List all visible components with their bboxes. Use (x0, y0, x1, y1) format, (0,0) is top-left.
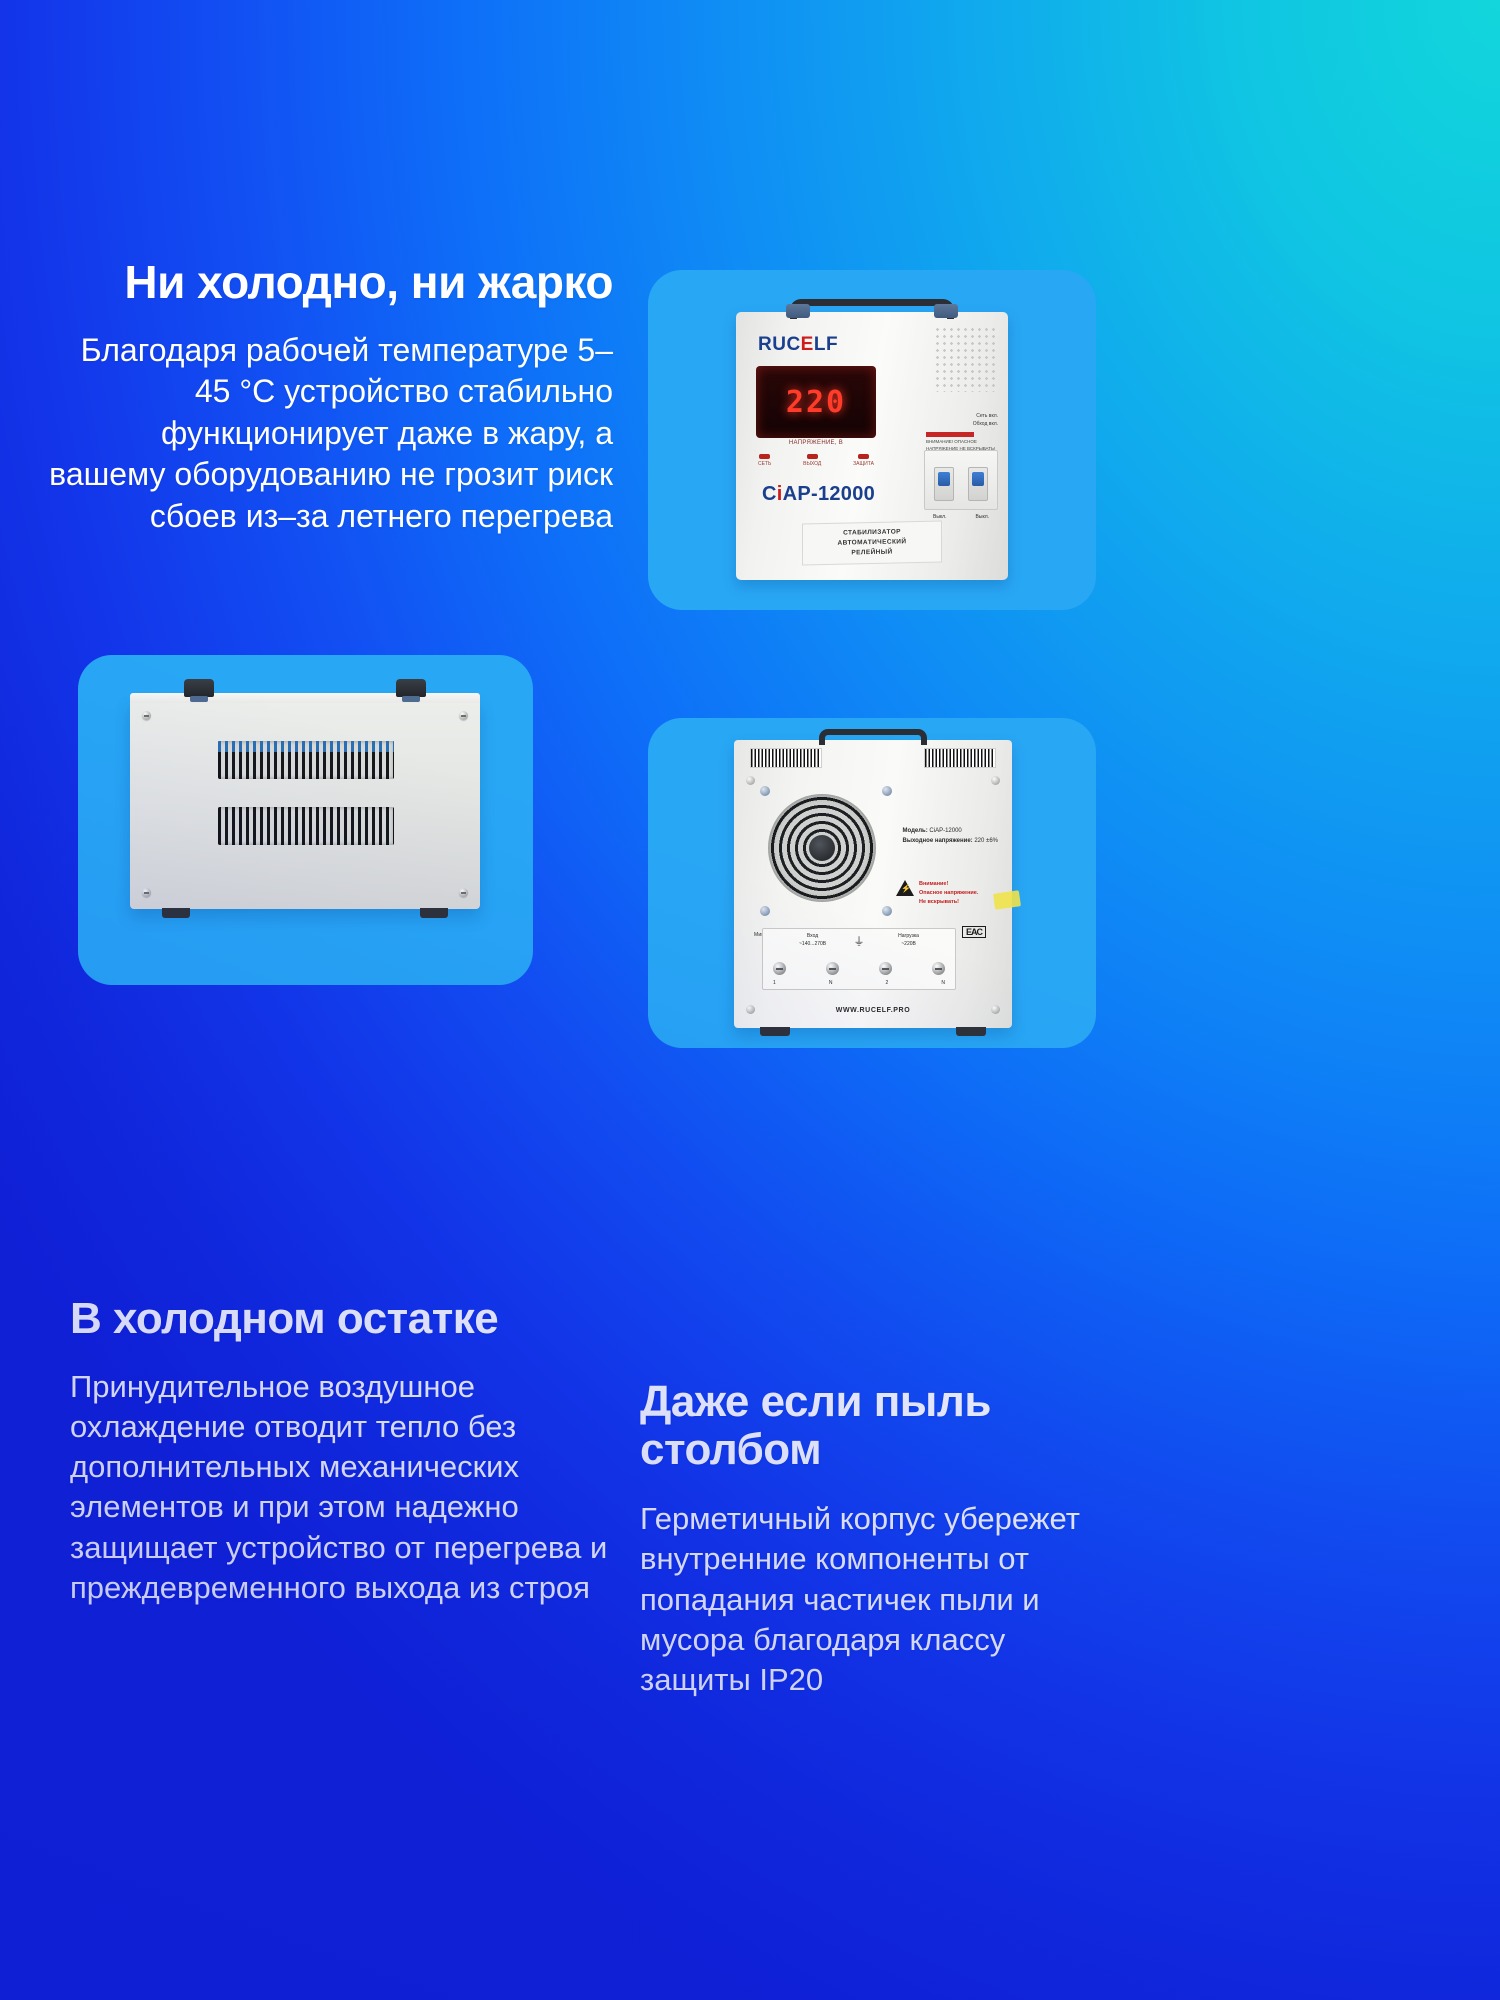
model-prefix: C (762, 483, 777, 505)
rubber-foot-right (420, 908, 448, 918)
rear-screw-top-left (746, 776, 755, 785)
feature-heading-dust: Даже если пыль столбом (640, 1378, 1090, 1473)
fan-screw-top-left (760, 786, 770, 796)
danger-line-2: Опасное напряжение. (919, 890, 978, 896)
switch-foot-label-right: Выкл. (976, 514, 989, 520)
terminal-mark-n1: N (829, 980, 833, 986)
terminal-mark-n2: N (941, 980, 945, 986)
handle-bracket-left (184, 679, 214, 697)
spec-model-row: Модель: CiAP-12000 (903, 826, 999, 836)
rear-danger-label: Внимание! Опасное напряжение. Не вскрыва… (896, 880, 1000, 906)
barcode-label-right (924, 748, 996, 768)
type-line-3: РЕЛЕЙНЫЙ (803, 546, 941, 559)
feature-heading-temperature: Ни холодно, ни жарко (48, 258, 613, 308)
case-screw-bottom-right (459, 888, 468, 897)
breaker-switch-bypass[interactable] (968, 467, 988, 501)
danger-line-3: Не вскрывать! (919, 899, 959, 905)
feature-body-dust: Герметичный корпус убережет внутренние к… (640, 1499, 1090, 1700)
ventilation-grille-upper (218, 741, 394, 779)
handle-bracket-right (396, 679, 426, 697)
ground-symbol-icon: ⏚ (854, 933, 865, 949)
logo-prefix: RUC (758, 334, 801, 355)
logo-accent: E (801, 334, 814, 355)
terminal-mark-2: 2 (886, 980, 889, 986)
product-card-side (78, 655, 533, 985)
feature-body-cooling: Принудительное воздушное охлаждение отво… (70, 1367, 630, 1609)
switch-top-labels: Сеть вкл. Обход вкл. (973, 412, 998, 428)
spec-voltage-label: Выходное напряжение: (903, 838, 973, 844)
switch-label-mains: Сеть вкл. (973, 412, 998, 420)
terminal-marking-row: 1 N 2 N (773, 980, 945, 986)
terminal-screw-1[interactable] (773, 962, 786, 975)
voltage-value: 220 (786, 385, 846, 420)
case-screw-bottom-left (142, 888, 151, 897)
website-label: WWW.RUCELF.PRO (836, 1007, 911, 1014)
model-badge: CiAP-12000 (762, 483, 875, 506)
rear-spec-plate: Модель: CiAP-12000 Выходное напряжение: … (903, 826, 999, 846)
product-card-front: RUCELF 220 НАПРЯЖЕНИЕ, В СЕТЬ ВЫХОД ЗАЩИ… (648, 270, 1096, 610)
led-indicator-protect: ЗАЩИТА (853, 454, 874, 467)
rucelf-logo: RUCELF (758, 334, 838, 356)
breaker-switch-panel: Выкл. Выкл. (924, 450, 998, 510)
voltage-display-caption: НАПРЯЖЕНИЕ, В (756, 440, 876, 446)
led-lamp-protect (858, 454, 869, 459)
terminal-screw-n1[interactable] (826, 962, 839, 975)
terminal-screw-n2[interactable] (932, 962, 945, 975)
terminal-mark-1: 1 (773, 980, 776, 986)
feature-body-temperature: Благодаря рабочей температуре 5–45 °C ус… (48, 330, 613, 538)
stabilizer-front-unit: RUCELF 220 НАПРЯЖЕНИЕ, В СЕТЬ ВЫХОД ЗАЩИ… (736, 312, 1008, 580)
rear-screw-top-right (991, 776, 1000, 785)
terminal-output-value: ~220В (901, 941, 916, 947)
switch-foot-label-left: Выкл. (933, 514, 946, 520)
warning-text: ВНИМАНИЕ! ОПАСНОЕ НАПРЯЖЕНИЕ НЕ ВСКРЫВАТ… (926, 439, 995, 451)
terminal-input-header: Вход ~140...270В (799, 933, 826, 948)
spec-model-value: CiAP-12000 (929, 828, 961, 834)
led-lamp-power (759, 454, 770, 459)
fan-screw-bottom-left (760, 906, 770, 916)
terminal-screw-2[interactable] (879, 962, 892, 975)
rear-screw-bottom-left (746, 1005, 755, 1014)
terminal-screw-row: ⏚ (773, 962, 945, 975)
led-voltage-display: 220 (756, 366, 876, 438)
terminal-input-value: ~140...270В (799, 941, 826, 947)
spec-voltage-value: 220 ±6% (974, 838, 998, 844)
breaker-switch-mains[interactable] (934, 467, 954, 501)
led-lamp-output (807, 454, 818, 459)
warning-red-bar (926, 432, 974, 437)
rubber-foot-left (162, 908, 190, 918)
handle-mount-right (934, 304, 958, 318)
terminal-input-label: Вход (807, 933, 818, 939)
terminal-block: Вход ~140...270В Нагрузка ~220В ⏚ (762, 928, 956, 990)
danger-text: Внимание! Опасное напряжение. Не вскрыва… (919, 880, 978, 906)
terminal-output-header: Нагрузка ~220В (898, 933, 919, 948)
stabilizer-side-unit (130, 699, 480, 909)
handle-mount-left (786, 304, 810, 318)
ventilation-grille-lower (218, 807, 394, 845)
rear-carry-handle (819, 729, 927, 745)
switch-label-bypass: Обход вкл. (973, 420, 998, 428)
feature-block-dust: Даже если пыль столбом Герметичный корпу… (640, 1378, 1090, 1701)
speaker-vent-dots (934, 326, 998, 392)
status-led-row: СЕТЬ ВЫХОД ЗАЩИТА (758, 454, 874, 467)
product-type-label: СТАБИЛИЗАТОР АВТОМАТИЧЕСКИЙ РЕЛЕЙНЫЙ (802, 520, 942, 565)
rear-foot-left (760, 1027, 790, 1036)
spec-voltage-row: Выходное напряжение: 220 ±6% (903, 836, 999, 846)
rear-foot-right (956, 1027, 986, 1036)
barcode-label-left (750, 748, 822, 768)
danger-line-1: Внимание! (919, 881, 948, 887)
eac-certification-mark: EAC (962, 926, 986, 938)
feature-block-temperature: Ни холодно, ни жарко Благодаря рабочей т… (48, 258, 613, 538)
high-voltage-warning-icon (896, 880, 914, 896)
feature-block-cooling: В холодном остатке Принудительное воздуш… (70, 1295, 630, 1608)
side-sticker (993, 890, 1021, 909)
cooling-fan-grille (768, 794, 876, 902)
terminal-output-label: Нагрузка (898, 933, 919, 939)
model-suffix: AP-12000 (783, 483, 875, 505)
logo-suffix: LF (814, 334, 838, 355)
led-indicator-power: СЕТЬ (758, 454, 771, 467)
carry-handle (790, 299, 954, 319)
spec-model-label: Модель: (903, 828, 928, 834)
fan-screw-top-right (882, 786, 892, 796)
fan-screw-bottom-right (882, 906, 892, 916)
led-label-power: СЕТЬ (758, 461, 771, 467)
led-label-protect: ЗАЩИТА (853, 461, 874, 467)
case-screw-top-right (459, 711, 468, 720)
rear-screw-bottom-right (991, 1005, 1000, 1014)
stabilizer-rear-unit: Модель: CiAP-12000 Выходное напряжение: … (734, 740, 1012, 1028)
promo-banner: Ни холодно, ни жарко Благодаря рабочей т… (0, 0, 1500, 2000)
case-screw-top-left (142, 711, 151, 720)
led-label-output: ВЫХОД (803, 461, 821, 467)
led-indicator-output: ВЫХОД (803, 454, 821, 467)
feature-heading-cooling: В холодном остатке (70, 1295, 630, 1343)
product-card-rear: Модель: CiAP-12000 Выходное напряжение: … (648, 718, 1096, 1048)
side-top-edge (130, 693, 480, 703)
